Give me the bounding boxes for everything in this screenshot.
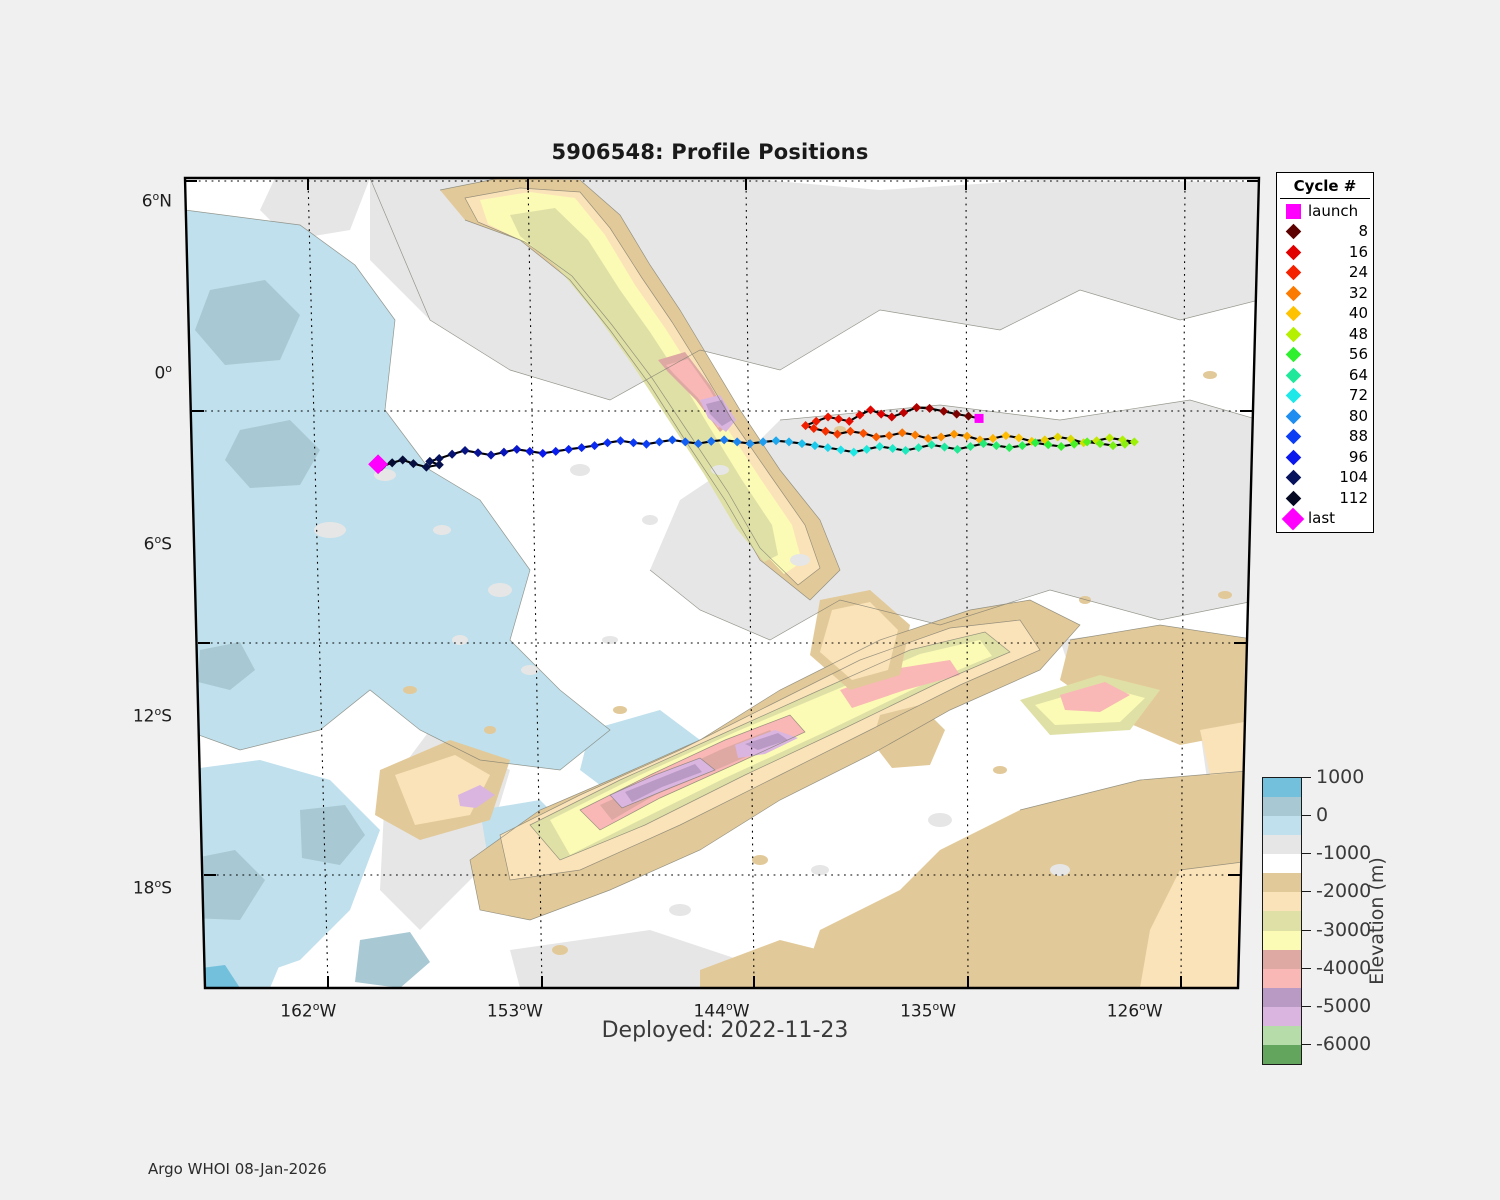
legend-item-label: 16 (1306, 245, 1370, 260)
legend-title: Cycle # (1280, 175, 1370, 199)
legend-item-label: 40 (1306, 306, 1370, 321)
legend-item-label: 32 (1306, 286, 1370, 301)
legend-item-label: 56 (1306, 347, 1370, 362)
diamond-marker-icon (1280, 267, 1306, 278)
legend-item-launch[interactable]: launch (1280, 201, 1370, 222)
diamond-marker-icon (1280, 247, 1306, 258)
colorbar-tick (1302, 891, 1311, 892)
colorbar-tick (1302, 853, 1311, 854)
legend-item-label: 80 (1306, 409, 1370, 424)
figure-canvas: 5906548: Profile Positions (0, 0, 1500, 1200)
legend-item-label: 96 (1306, 450, 1370, 465)
diamond-marker-icon (1280, 390, 1306, 401)
legend-item-64[interactable]: 64 (1280, 365, 1370, 386)
legend-item-40[interactable]: 40 (1280, 304, 1370, 325)
legend-item-label: 24 (1306, 265, 1370, 280)
legend-item-48[interactable]: 48 (1280, 324, 1370, 345)
legend-item-label: 48 (1306, 327, 1370, 342)
legend-item-72[interactable]: 72 (1280, 386, 1370, 407)
colorbar-tick (1302, 968, 1311, 969)
colorbar-tick-label: 1000 (1316, 766, 1364, 788)
diamond-marker-icon (1280, 472, 1306, 483)
legend-item-label: 112 (1306, 491, 1370, 506)
legend-item-label: 88 (1306, 429, 1370, 444)
diamond-marker-icon (1280, 349, 1306, 360)
diamond-marker-icon (1280, 370, 1306, 381)
colorbar-tick (1302, 1044, 1311, 1045)
legend-item-32[interactable]: 32 (1280, 283, 1370, 304)
deployed-date: Deployed: 2022-11-23 (0, 1018, 1450, 1043)
credit-text: Argo WHOI 08-Jan-2026 (148, 1160, 327, 1178)
legend-item-8[interactable]: 8 (1280, 222, 1370, 243)
diamond-marker-icon (1280, 329, 1306, 340)
legend-item-56[interactable]: 56 (1280, 345, 1370, 366)
legend-item-24[interactable]: 24 (1280, 263, 1370, 284)
legend-item-label: 64 (1306, 368, 1370, 383)
colorbar-title: Elevation (m) (1362, 775, 1392, 1067)
diamond-marker-icon (1280, 431, 1306, 442)
legend-item-16[interactable]: 16 (1280, 242, 1370, 263)
cycle-legend[interactable]: Cycle # launch81624324048566472808896104… (1276, 172, 1374, 533)
colorbar-tick (1302, 815, 1311, 816)
legend-item-last[interactable]: last (1280, 509, 1370, 530)
square-marker-icon (1280, 204, 1306, 219)
legend-item-label: 104 (1306, 470, 1370, 485)
diamond-marker-icon (1280, 308, 1306, 319)
colorbar-tick (1302, 930, 1311, 931)
legend-item-80[interactable]: 80 (1280, 406, 1370, 427)
diamond-marker-icon (1280, 288, 1306, 299)
colorbar-tick (1302, 777, 1311, 778)
legend-item-104[interactable]: 104 (1280, 468, 1370, 489)
diamond-marker-icon (1280, 411, 1306, 422)
legend-item-label: 72 (1306, 388, 1370, 403)
diamond-marker-icon (1280, 493, 1306, 504)
colorbar-tick (1302, 1006, 1311, 1007)
colorbar-tick-label: 0 (1316, 804, 1328, 826)
legend-item-label: launch (1306, 204, 1370, 219)
diamond-marker-icon (1280, 226, 1306, 237)
legend-item-112[interactable]: 112 (1280, 488, 1370, 509)
legend-item-88[interactable]: 88 (1280, 427, 1370, 448)
diamond-marker-icon (1280, 452, 1306, 463)
colorbar-title-text: Elevation (m) (1366, 857, 1388, 985)
diamond-marker-icon (1280, 511, 1306, 527)
legend-rows[interactable]: launch81624324048566472808896104112last (1280, 201, 1370, 529)
legend-item-label: 8 (1306, 224, 1370, 239)
legend-item-96[interactable]: 96 (1280, 447, 1370, 468)
legend-item-label: last (1306, 511, 1370, 526)
